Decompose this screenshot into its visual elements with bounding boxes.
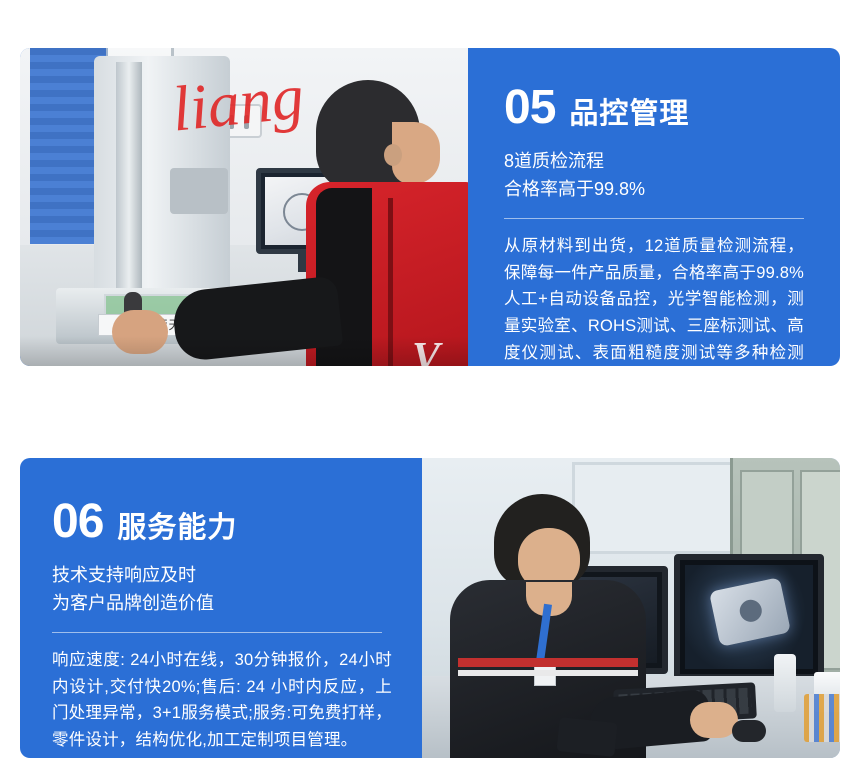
section-05-number: 05 [504, 84, 555, 132]
section-06-number: 06 [52, 498, 103, 546]
water-bottle [774, 654, 796, 712]
photo-bottom-shadow [20, 336, 468, 366]
section-05-body: 从原材料到出货，12道质量检测流程，保障每一件产品质量，合格率高于99.8%人工… [504, 233, 804, 366]
operator-ear [384, 144, 402, 166]
section-05-heading: 05 品控管理 [504, 84, 804, 132]
section-06-text: 06 服务能力 技术支持响应及时 为客户品牌创造价值 响应速度: 24小时在线，… [20, 458, 422, 758]
section-card-05: 川元荷天地 liang V 05 品控管理 8道质检流程 合格率高于99.8% [20, 48, 840, 366]
mouse [732, 720, 766, 742]
desk-tools [804, 694, 840, 742]
shirt-stripe-white [458, 670, 638, 676]
machine-head [170, 168, 228, 214]
section-05-title: 品控管理 [569, 100, 689, 129]
section-06-title: 服务能力 [117, 514, 237, 543]
section-06-subtitle-line-1: 技术支持响应及时 [52, 562, 392, 590]
section-06-photo [422, 458, 840, 758]
photo-watermark: liang [168, 59, 307, 146]
wall-board [572, 462, 752, 554]
section-06-divider [52, 632, 382, 633]
smartphone [556, 717, 617, 757]
section-05-photo: 川元荷天地 liang V [20, 48, 468, 366]
section-05-subtitle-line-1: 8道质检流程 [504, 148, 804, 176]
engineer-hand [690, 702, 738, 738]
section-06-subtitle-line-2: 为客户品牌创造价值 [52, 590, 392, 618]
section-06-heading: 06 服务能力 [52, 498, 392, 546]
section-05-text: 05 品控管理 8道质检流程 合格率高于99.8% 从原材料到出货，12道质量检… [468, 48, 840, 366]
machine-column [116, 62, 142, 292]
section-05-subtitle-line-2: 合格率高于99.8% [504, 176, 804, 204]
page-root: 川元荷天地 liang V 05 品控管理 8道质检流程 合格率高于99.8% [0, 0, 860, 780]
section-06-subtitle: 技术支持响应及时 为客户品牌创造价值 [52, 562, 392, 618]
shirt-stripe-red [458, 658, 638, 667]
section-card-06: 06 服务能力 技术支持响应及时 为客户品牌创造价值 响应速度: 24小时在线，… [20, 458, 840, 758]
section-05-subtitle: 8道质检流程 合格率高于99.8% [504, 148, 804, 204]
section-05-divider [504, 218, 804, 219]
section-06-body: 响应速度: 24小时在线，30分钟报价，24小时内设计,交付快20%;售后: 2… [52, 647, 392, 754]
